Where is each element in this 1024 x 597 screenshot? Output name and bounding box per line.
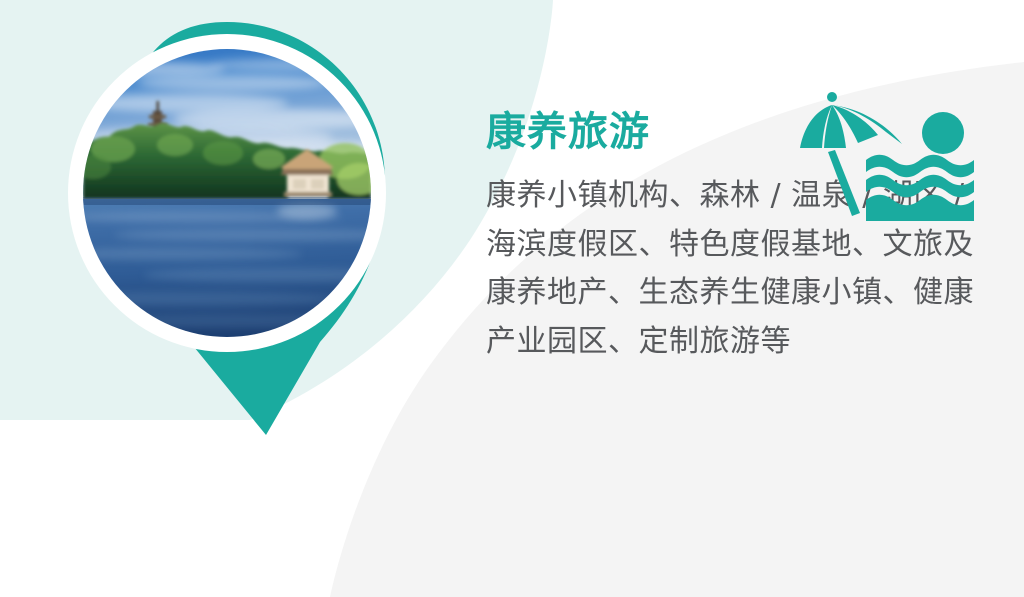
lake-pagoda-photo <box>83 49 371 337</box>
beach-umbrella-swimmer-icon <box>786 88 991 221</box>
photo-artwork <box>83 49 371 337</box>
beach-icon-artwork <box>786 88 991 221</box>
promo-card: 康养旅游 康养小镇机构、森林 / 温泉 / 湖区 / 海滨度假区、特色度假基地、… <box>0 0 1024 597</box>
photo-ring <box>68 34 386 352</box>
map-pin-photo-group <box>30 12 450 452</box>
